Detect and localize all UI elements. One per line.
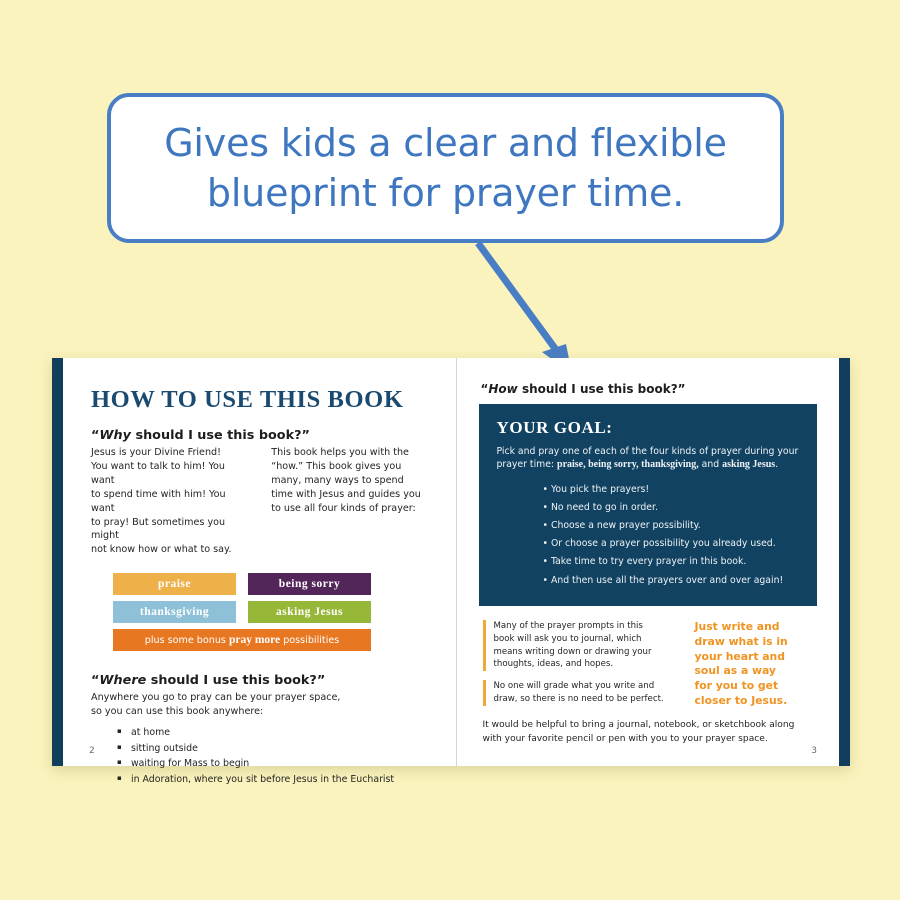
where-block: “Where should I use this book?” Anywhere… <box>91 673 430 787</box>
bonus-bar-suffix: possibilities <box>280 635 339 646</box>
where-intro-text: Anywhere you go to pray can be your pray… <box>91 691 430 719</box>
prayer-kinds-row-2: thanksgiving asking Jesus <box>113 601 430 623</box>
page-title: HOW TO USE THIS BOOK <box>91 386 430 414</box>
journal-area: Many of the prayer prompts in this book … <box>479 620 818 715</box>
list-item: No need to go in order. <box>543 499 800 517</box>
prayer-kinds-row-1: praise being sorry <box>113 573 430 595</box>
page-number-left: 2 <box>89 746 95 756</box>
why-body-col-1: Jesus is your Divine Friend! You want to… <box>91 446 249 557</box>
book-spine-right <box>839 358 850 766</box>
where-list: at home sitting outside waiting for Mass… <box>91 725 430 787</box>
prayer-kind-asking-jesus: asking Jesus <box>248 601 371 623</box>
list-item: Choose a new prayer possibility. <box>543 517 800 535</box>
book-spread: HOW TO USE THIS BOOK “Why should I use t… <box>52 358 850 766</box>
list-item: You pick the prayers! <box>543 481 800 499</box>
closing-note: It would be helpful to bring a journal, … <box>479 719 818 746</box>
how-heading: “How should I use this book?” <box>481 382 818 396</box>
book-spine-left <box>52 358 63 766</box>
how-heading-emphasis: How <box>488 382 517 396</box>
why-body-columns: Jesus is your Divine Friend! You want to… <box>91 446 430 557</box>
goal-intro-bold2: asking Jesus <box>722 459 775 470</box>
how-heading-rest: should I use this book?” <box>518 382 686 396</box>
book-page-right: “How should I use this book?” YOUR GOAL:… <box>457 358 840 766</box>
book-page-left: HOW TO USE THIS BOOK “Why should I use t… <box>63 358 457 766</box>
prayer-kind-thanksgiving: thanksgiving <box>113 601 236 623</box>
why-heading-rest: should I use this book?” <box>131 428 310 443</box>
bonus-bar-prefix: plus some bonus <box>145 635 229 646</box>
why-heading-emphasis: Why <box>99 428 131 443</box>
goal-intro-part2: and <box>699 459 722 470</box>
page-number-right: 3 <box>811 746 817 756</box>
your-goal-intro: Pick and pray one of each of the four ki… <box>497 445 800 473</box>
prayer-kinds-legend: praise being sorry thanksgiving asking J… <box>113 573 430 651</box>
list-item: sitting outside <box>131 741 430 757</box>
list-item: at home <box>131 725 430 741</box>
journal-notes: Many of the prayer prompts in this book … <box>483 620 681 715</box>
your-goal-box: YOUR GOAL: Pick and pray one of each of … <box>479 404 818 606</box>
journal-note-1: Many of the prayer prompts in this book … <box>483 620 681 672</box>
goal-intro-bold: praise, being sorry, thanksgiving, <box>557 459 699 470</box>
where-heading-emphasis: Where <box>99 673 146 688</box>
goal-intro-part3: . <box>775 459 778 470</box>
where-heading: “Where should I use this book?” <box>91 673 430 688</box>
list-item: in Adoration, where you sit before Jesus… <box>131 772 430 788</box>
your-goal-list: You pick the prayers! No need to go in o… <box>497 481 800 590</box>
callout-bubble: Gives kids a clear and flexible blueprin… <box>107 93 784 243</box>
journal-note-2: No one will grade what you write and dra… <box>483 680 681 706</box>
list-item: And then use all the prayers over and ov… <box>543 572 800 590</box>
your-goal-title: YOUR GOAL: <box>497 418 800 438</box>
prayer-kind-praise: praise <box>113 573 236 595</box>
why-heading: “Why should I use this book?” <box>91 428 430 443</box>
pull-quote: Just write and draw what is in your hear… <box>695 620 803 715</box>
prayer-kind-bonus-bar: plus some bonus pray more possibilities <box>113 629 371 651</box>
bonus-bar-strong: pray more <box>229 634 280 646</box>
where-heading-rest: should I use this book?” <box>146 673 325 688</box>
prayer-kind-being-sorry: being sorry <box>248 573 371 595</box>
list-item: waiting for Mass to begin <box>131 756 430 772</box>
why-body-col-2: This book helps you with the “how.” This… <box>271 446 429 557</box>
list-item: Take time to try every prayer in this bo… <box>543 553 800 571</box>
callout-text: Gives kids a clear and flexible blueprin… <box>140 118 751 218</box>
list-item: Or choose a prayer possibility you alrea… <box>543 535 800 553</box>
